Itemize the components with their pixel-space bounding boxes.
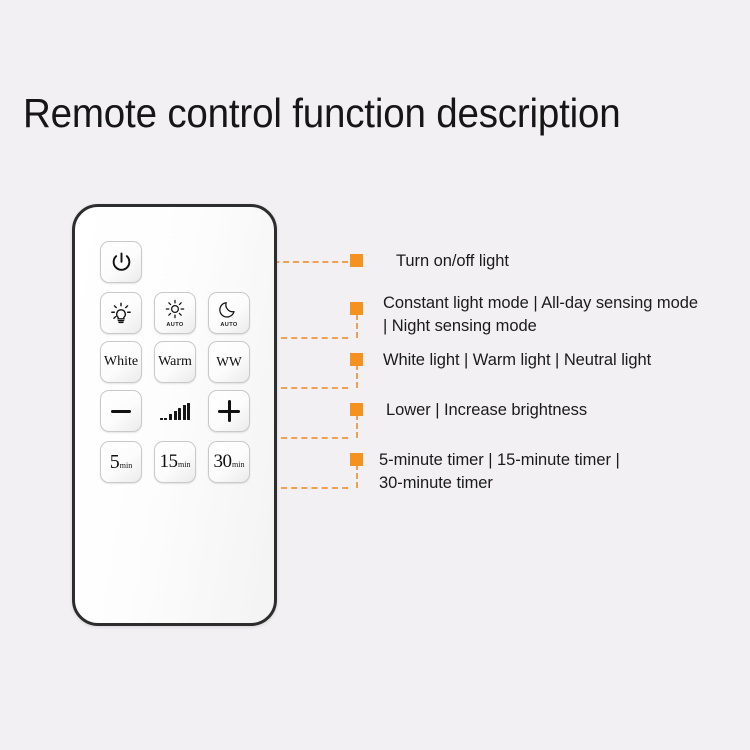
all-day-sensing-mode-button[interactable]: AUTO [154, 292, 196, 334]
warm-light-label: Warm [158, 354, 192, 370]
neutral-light-button[interactable]: WW [208, 341, 250, 383]
callout-bullet-mode [350, 302, 363, 315]
timer-5min-number: 5 [110, 452, 120, 472]
timer-5min-label: 5min [110, 452, 132, 472]
callout-label-power: Turn on/off light [396, 250, 509, 273]
white-light-button[interactable]: White [100, 341, 142, 383]
callout-bullet-brightness [350, 403, 363, 416]
timer-15min-unit: min [178, 461, 190, 469]
timer-30min-unit: min [232, 461, 244, 469]
constant-light-mode-button[interactable] [100, 292, 142, 334]
callout-bullet-color [350, 353, 363, 366]
brightness-level-indicator-icon [155, 402, 195, 420]
timer-30min-number: 30 [214, 452, 232, 472]
timer-15min-label: 15min [160, 452, 191, 472]
sun-icon: AUTO [164, 298, 186, 328]
bulb-icon [107, 299, 135, 327]
connector-riser-mode [356, 314, 358, 338]
ww-light-label: WW [216, 354, 241, 370]
night-sensing-mode-button[interactable]: AUTO [208, 292, 250, 334]
minus-icon [111, 410, 131, 413]
connector-riser-timer [356, 464, 358, 488]
timer-30min-label: 30min [214, 452, 245, 472]
callout-label-timer: 5-minute timer | 15-minute timer | 30-mi… [379, 449, 620, 495]
plus-icon [218, 400, 240, 422]
power-icon [110, 251, 133, 274]
timer-30min-button[interactable]: 30min [208, 441, 250, 483]
auto-label-moon: AUTO [220, 322, 237, 328]
brightness-up-button[interactable] [208, 390, 250, 432]
callout-label-mode: Constant light mode | All-day sensing mo… [383, 292, 698, 338]
moon-icon: AUTO [218, 298, 240, 328]
remote-control-body: AUTO AUTO White Warm WW [72, 204, 277, 626]
callout-label-color: White light | Warm light | Neutral light [383, 349, 651, 372]
callout-bullet-timer [350, 453, 363, 466]
connector-riser-brightness [356, 414, 358, 438]
callout-label-brightness: Lower | Increase brightness [386, 399, 587, 422]
warm-light-button[interactable]: Warm [154, 341, 196, 383]
auto-label-sun: AUTO [166, 322, 183, 328]
timer-5min-unit: min [120, 462, 132, 470]
page-title: Remote control function description [23, 88, 621, 138]
timer-15min-number: 15 [160, 452, 178, 472]
callout-bullet-power [350, 254, 363, 267]
brightness-down-button[interactable] [100, 390, 142, 432]
white-light-label: White [104, 354, 138, 370]
connector-riser-color [356, 364, 358, 388]
timer-15min-button[interactable]: 15min [154, 441, 196, 483]
timer-5min-button[interactable]: 5min [100, 441, 142, 483]
diagram-canvas: Remote control function description Turn… [0, 0, 750, 750]
power-button[interactable] [100, 241, 142, 283]
